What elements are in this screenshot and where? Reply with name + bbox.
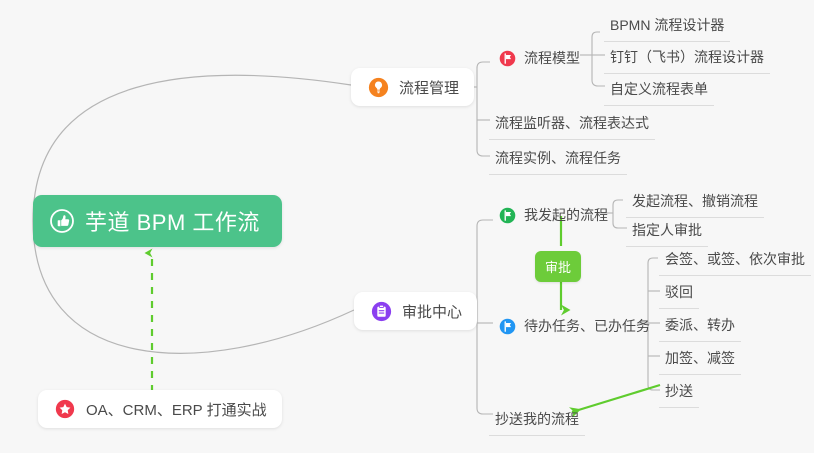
leaf-label: 委派、转办 bbox=[665, 315, 735, 335]
leaf-label: 流程监听器、流程表达式 bbox=[495, 113, 649, 133]
root-label: 芋道 BPM 工作流 bbox=[85, 205, 260, 237]
annotation-label: 审批 bbox=[545, 257, 571, 276]
leaf-countersign-or-sequential[interactable]: 会签、或签、依次审批 bbox=[659, 245, 811, 276]
clipboard-icon bbox=[369, 299, 393, 323]
leaf-process-listener-expression[interactable]: 流程监听器、流程表达式 bbox=[489, 109, 655, 140]
branch-process-management[interactable]: 流程管理 bbox=[351, 68, 474, 106]
leaf-delegate-transfer[interactable]: 委派、转办 bbox=[659, 311, 741, 342]
thumbs-up-icon bbox=[50, 209, 74, 233]
leaf-add-remove-sign[interactable]: 加签、减签 bbox=[659, 344, 741, 375]
annotation-approval-tag: 审批 bbox=[535, 251, 581, 282]
leaf-label: 流程实例、流程任务 bbox=[495, 148, 621, 168]
edge-ac-spine bbox=[477, 220, 493, 414]
leaf-label: 自定义流程表单 bbox=[610, 79, 708, 99]
mindmap-canvas: 芋道 BPM 工作流 流程管理 流程模型 BPMN 流程设计器 钉钉 bbox=[0, 0, 814, 453]
node-oa-crm-erp[interactable]: OA、CRM、ERP 打通实战 bbox=[38, 390, 282, 428]
edge-cc-to-ccmine bbox=[572, 385, 660, 412]
leaf-dingtalk-feishu-designer[interactable]: 钉钉（飞书）流程设计器 bbox=[604, 43, 770, 74]
leaf-label: 发起流程、撤销流程 bbox=[632, 191, 758, 211]
leaf-bpmn-designer[interactable]: BPMN 流程设计器 bbox=[604, 11, 730, 42]
leaf-label: 会签、或签、依次审批 bbox=[665, 249, 805, 269]
flag-icon bbox=[498, 49, 516, 67]
branch-approval-center[interactable]: 审批中心 bbox=[354, 292, 477, 330]
leaf-label: BPMN 流程设计器 bbox=[610, 15, 724, 35]
leaf-process-model[interactable]: 流程模型 bbox=[492, 44, 586, 74]
leaf-label: 钉钉（飞书）流程设计器 bbox=[610, 47, 764, 67]
leaf-start-cancel-process[interactable]: 发起流程、撤销流程 bbox=[626, 187, 764, 218]
node-label: OA、CRM、ERP 打通实战 bbox=[86, 399, 267, 420]
leaf-label: 待办任务、已办任务 bbox=[524, 316, 650, 336]
leaf-label: 驳回 bbox=[665, 282, 693, 302]
branch-label: 审批中心 bbox=[402, 301, 462, 322]
leaf-assignee-approval[interactable]: 指定人审批 bbox=[626, 216, 708, 247]
flag-icon bbox=[498, 206, 516, 224]
leaf-reject[interactable]: 驳回 bbox=[659, 278, 699, 309]
leaf-todo-done-task[interactable]: 待办任务、已办任务 bbox=[492, 312, 656, 342]
branch-label: 流程管理 bbox=[399, 77, 459, 98]
leaf-label: 加签、减签 bbox=[665, 348, 735, 368]
leaf-label: 抄送 bbox=[665, 381, 693, 401]
star-icon bbox=[53, 397, 77, 421]
lightbulb-icon bbox=[366, 75, 390, 99]
leaf-my-initiated-process[interactable]: 我发起的流程 bbox=[492, 201, 614, 231]
leaf-label: 指定人审批 bbox=[632, 220, 702, 240]
leaf-cc-to-me-process[interactable]: 抄送我的流程 bbox=[489, 405, 585, 436]
leaf-process-instance-task[interactable]: 流程实例、流程任务 bbox=[489, 144, 627, 175]
leaf-label: 流程模型 bbox=[524, 48, 580, 68]
leaf-carbon-copy[interactable]: 抄送 bbox=[659, 377, 699, 408]
edge-pm-spine-upper bbox=[477, 62, 490, 68]
leaf-label: 抄送我的流程 bbox=[495, 409, 579, 429]
leaf-custom-process-form[interactable]: 自定义流程表单 bbox=[604, 75, 714, 106]
edge-mip-spine bbox=[613, 200, 627, 228]
flag-icon bbox=[498, 317, 516, 335]
leaf-label: 我发起的流程 bbox=[524, 205, 608, 225]
root-node[interactable]: 芋道 BPM 工作流 bbox=[33, 195, 282, 247]
